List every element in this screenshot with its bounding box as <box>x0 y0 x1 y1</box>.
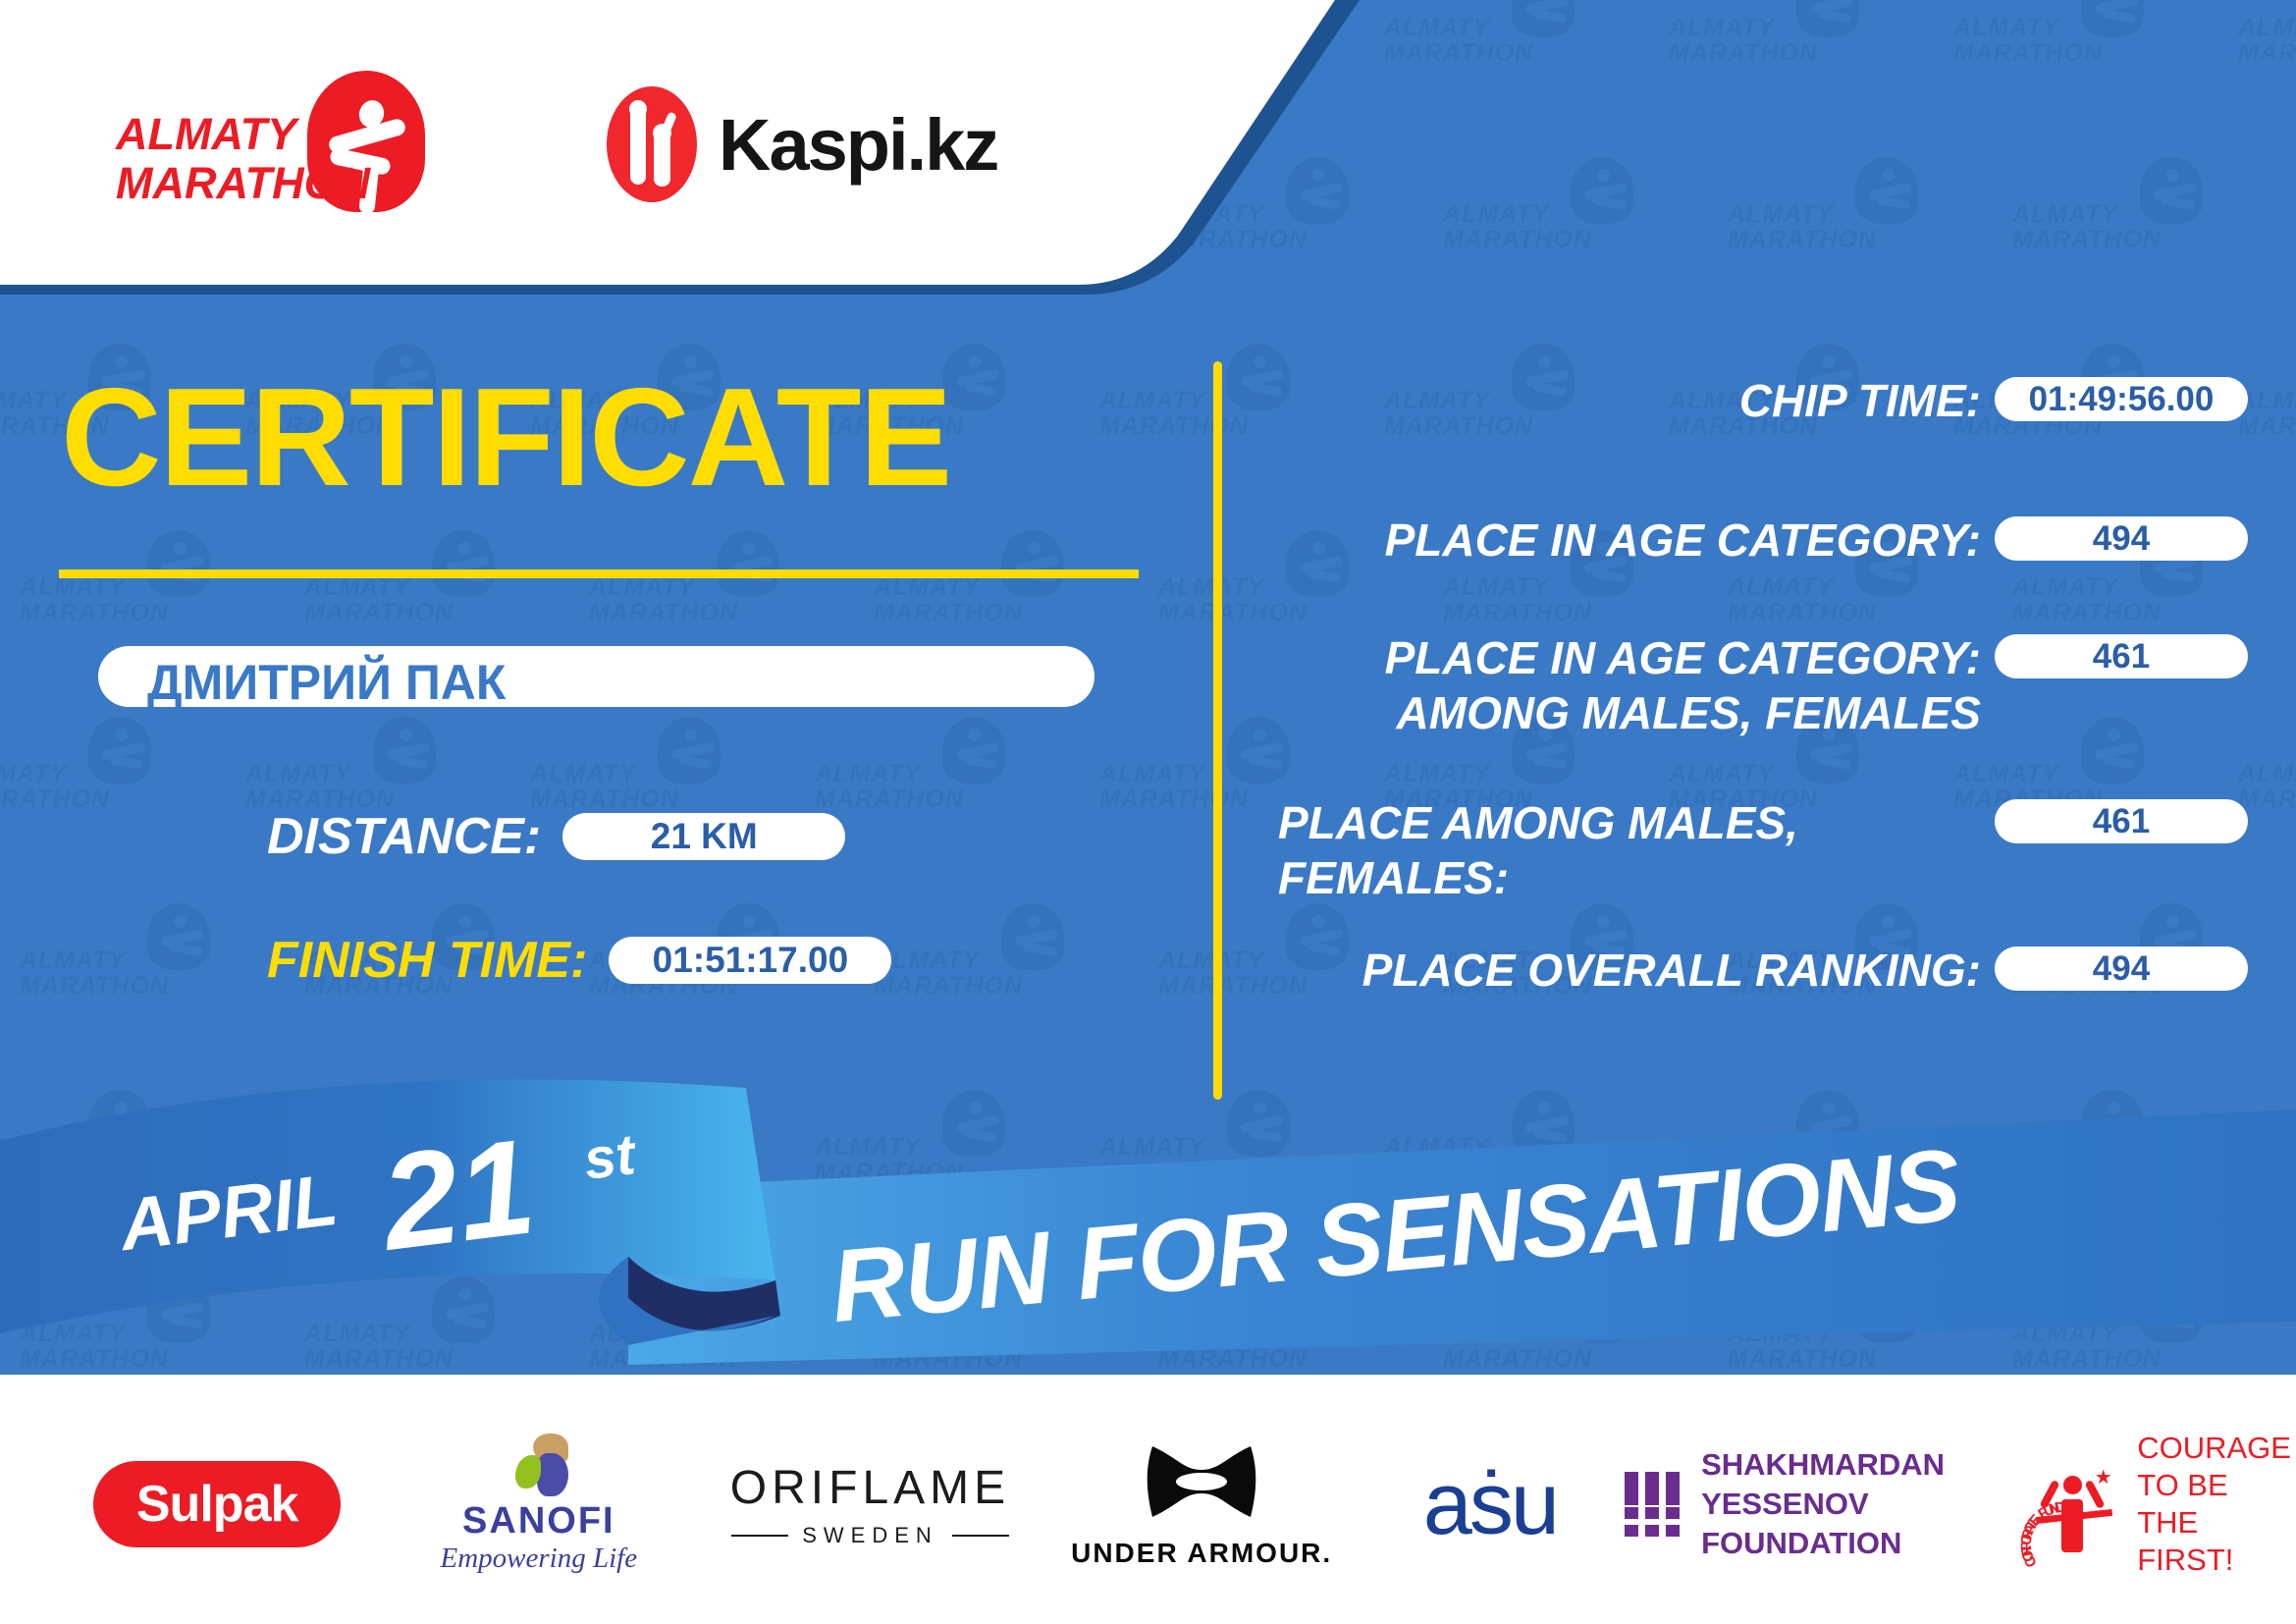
courage-line-3: THE FIRST! <box>2137 1504 2296 1579</box>
watermark-tile: ALMATYMARATHON <box>1728 157 1924 295</box>
page-title: CERTIFICATE <box>61 368 950 508</box>
kaspi-wordmark: Kaspi.kz <box>719 103 997 187</box>
certificate-page: ALMATYMARATHONALMATYMARATHONALMATYMARATH… <box>0 0 2296 1624</box>
watermark-tile: ALMATYMARATHON <box>2012 157 2209 295</box>
asu-wordmark: aṡu <box>1423 1454 1557 1555</box>
finish-time-value-pill: 01:51:17.00 <box>609 937 891 984</box>
sponsor-oriflame: ORIFLAME SWEDEN <box>712 1431 1028 1578</box>
courage-figure-head <box>2063 1476 2082 1494</box>
distance-value-pill: 21 KM <box>562 813 845 860</box>
courage-star-icon: ★ <box>2095 1468 2112 1488</box>
yessenov-mark-icon <box>1625 1472 1680 1537</box>
brand-line-2: MARATHON <box>116 159 370 208</box>
yessenov-wordmark: SHAKHMARDAN YESSENOV FOUNDATION <box>1701 1445 2008 1563</box>
finish-time-label: FINISH TIME: <box>267 931 587 990</box>
distance-value: 21 KM <box>651 816 758 857</box>
oriflame-rule-right <box>952 1535 1009 1537</box>
distance-row: DISTANCE: 21 KM <box>267 807 845 866</box>
distance-label: DISTANCE: <box>267 807 541 866</box>
header-logos: ALMATY MARATHON Kaspi.kz <box>0 0 997 285</box>
sponsor-courage-fund: CORPORATE FUND ★ COURAGE TO BE THE FIRST… <box>2018 1431 2296 1578</box>
kaspi-logo: Kaspi.kz <box>607 86 997 202</box>
sulpak-wordmark: Sulpak <box>93 1461 342 1547</box>
stat-value: 461 <box>2093 802 2150 841</box>
watermark-tile: ALMATYMARATHON <box>1443 157 1639 295</box>
courage-line-1: COURAGE <box>2137 1430 2296 1467</box>
watermark-tile: ALMATYMARATHON <box>874 903 1070 1041</box>
brand-line-1: ALMATY <box>116 110 370 159</box>
stat-value-pill: 461 <box>1995 799 2248 843</box>
sanofi-wordmark: SANOFI <box>441 1500 638 1543</box>
ribbon-day: 21 <box>374 1109 543 1282</box>
kaspi-oval-shape <box>607 86 697 202</box>
stat-value: 494 <box>2093 949 2150 989</box>
almaty-marathon-logo: ALMATY MARATHON <box>116 59 450 226</box>
stat-label: CHIP TIME: <box>1266 373 1995 428</box>
stat-value: 461 <box>2093 637 2150 677</box>
watermark-tile: ALMATYMARATHON <box>1384 0 1580 108</box>
under-armour-wordmark: UNDER ARMOUR. <box>1071 1538 1332 1569</box>
sanofi-petal-blue <box>537 1453 568 1496</box>
under-armour-icon <box>1123 1440 1280 1523</box>
yessenov-line-1: SHAKHMARDAN YESSENOV <box>1701 1445 2008 1524</box>
stat-label: PLACE IN AGE CATEGORY: AMONG MALES, FEMA… <box>1266 630 1995 740</box>
stat-row-place-overall-ranking: PLACE OVERALL RANKING: 494 <box>1266 943 2248 998</box>
stat-value: 01:49:56.00 <box>2029 380 2215 419</box>
almaty-marathon-wordmark: ALMATY MARATHON <box>116 110 370 208</box>
stat-row-place-in-age-category: PLACE IN AGE CATEGORY: 494 <box>1266 513 2248 568</box>
sponsor-under-armour: UNDER ARMOUR. <box>1058 1431 1346 1578</box>
watermark-tile: ALMATYMARATHON <box>2238 0 2296 108</box>
kaspi-person-tall-head <box>629 100 647 118</box>
watermark-tile: ALMATYMARATHON <box>1953 0 2150 108</box>
courage-figure-body <box>2061 1499 2083 1552</box>
oriflame-wordmark: ORIFLAME <box>730 1461 1010 1515</box>
stat-value-pill: 01:49:56.00 <box>1995 377 2248 421</box>
sanofi-tagline: Empowering Life <box>441 1543 638 1575</box>
watermark-tile: ALMATYMARATHON <box>1158 157 1355 295</box>
sponsor-strip: Sulpak SANOFI Empowering Life ORIFLAME S… <box>0 1384 2296 1624</box>
oriflame-sub: SWEDEN <box>730 1523 1010 1548</box>
oriflame-rule-left <box>731 1535 788 1537</box>
stat-value: 494 <box>2093 519 2150 559</box>
watermark-tile: ALMATYMARATHON <box>20 903 216 1041</box>
stat-label: PLACE IN AGE CATEGORY: <box>1266 513 1995 568</box>
ribbon-day-suffix: st <box>580 1121 638 1193</box>
stat-value-pill: 494 <box>1995 516 2248 561</box>
stat-row-place-in-age-category-among: PLACE IN AGE CATEGORY: AMONG MALES, FEMA… <box>1266 630 2248 740</box>
sponsor-sulpak: Sulpak <box>59 1431 375 1578</box>
participant-name: ДМИТРИЙ ПАК <box>147 654 506 711</box>
yessenov-line-2: FOUNDATION <box>1701 1524 2008 1563</box>
watermark-tile: ALMATYMARATHON <box>0 717 157 854</box>
courage-fund-icon: CORPORATE FUND ★ <box>2018 1450 2121 1558</box>
finish-time-value: 01:51:17.00 <box>653 940 849 981</box>
sanofi-mark-icon <box>507 1434 570 1496</box>
watermark-tile: ALMATYMARATHON <box>1669 0 1865 108</box>
finish-time-row: FINISH TIME: 01:51:17.00 <box>267 931 891 990</box>
sponsor-sanofi: SANOFI Empowering Life <box>395 1431 682 1578</box>
courage-line-2: TO BE <box>2137 1467 2296 1504</box>
stat-row-place-among-males-females: PLACE AMONG MALES, FEMALES: 461 <box>1266 795 2248 905</box>
sponsor-yessenov-foundation: SHAKHMARDAN YESSENOV FOUNDATION <box>1625 1431 2008 1578</box>
oriflame-country: SWEDEN <box>802 1523 938 1548</box>
stat-value-pill: 494 <box>1995 947 2248 991</box>
stat-label: PLACE OVERALL RANKING: <box>1266 943 1995 998</box>
stat-value-pill: 461 <box>1995 634 2248 678</box>
vertical-divider <box>1213 361 1222 1100</box>
stat-label: PLACE AMONG MALES, FEMALES: <box>1266 795 1995 905</box>
courage-slogan: COURAGE TO BE THE FIRST! <box>2137 1430 2296 1579</box>
watermark-tile: ALMATYMARATHON <box>1099 0 1296 108</box>
sponsor-asu: aṡu <box>1375 1431 1605 1578</box>
kaspi-mark-icon <box>607 86 697 202</box>
title-underline-rule <box>59 569 1139 578</box>
stat-row-chip-time: CHIP TIME: 01:49:56.00 <box>1266 373 2248 428</box>
